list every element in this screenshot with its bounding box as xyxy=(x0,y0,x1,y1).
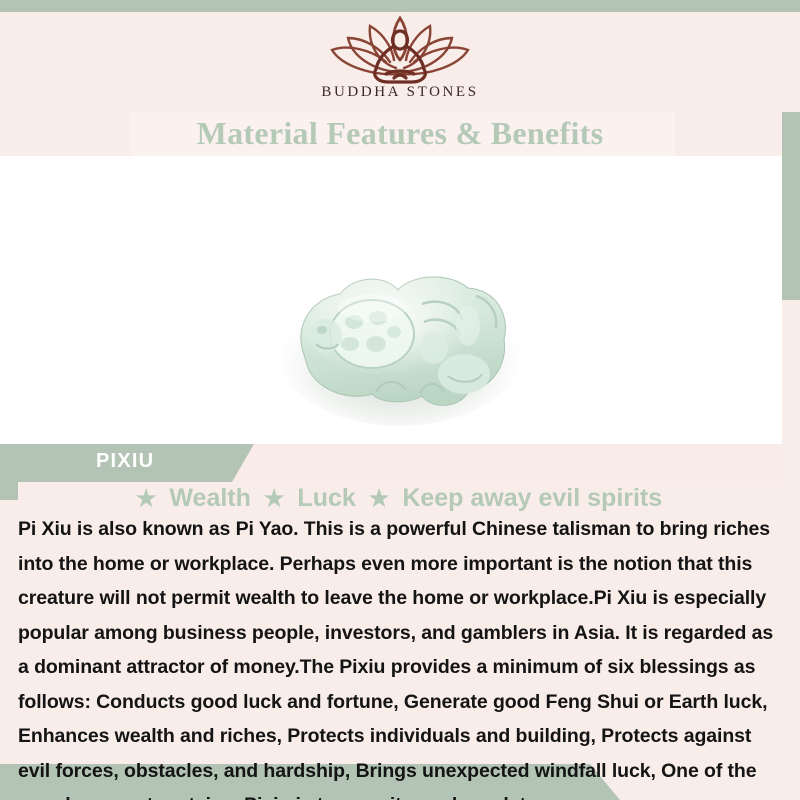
brand-header: BUDDHA STONES xyxy=(0,12,800,112)
benefits-row: ★ Wealth ★ Luck ★ Keep away evil spirits xyxy=(0,484,800,513)
jade-pixiu-image xyxy=(272,252,528,428)
star-icon: ★ xyxy=(134,485,159,511)
description-text: Pi Xiu is also known as Pi Yao. This is … xyxy=(18,512,782,800)
star-icon: ★ xyxy=(262,485,287,511)
benefit-evil-spirits: Keep away evil spirits xyxy=(398,484,666,512)
page-title: Material Features & Benefits xyxy=(0,110,800,156)
product-label: PIXIU xyxy=(96,450,154,473)
benefit-wealth: Wealth xyxy=(165,484,255,512)
top-accent-band xyxy=(0,0,800,12)
infographic-page: BUDDHA STONES Material Features & Benefi… xyxy=(0,0,800,800)
star-icon: ★ xyxy=(367,485,392,511)
lotus-meditation-icon xyxy=(320,14,480,86)
brand-name: BUDDHA STONES xyxy=(0,84,800,101)
benefit-luck: Luck xyxy=(293,484,359,512)
logo-lockup: BUDDHA STONES xyxy=(0,12,800,101)
